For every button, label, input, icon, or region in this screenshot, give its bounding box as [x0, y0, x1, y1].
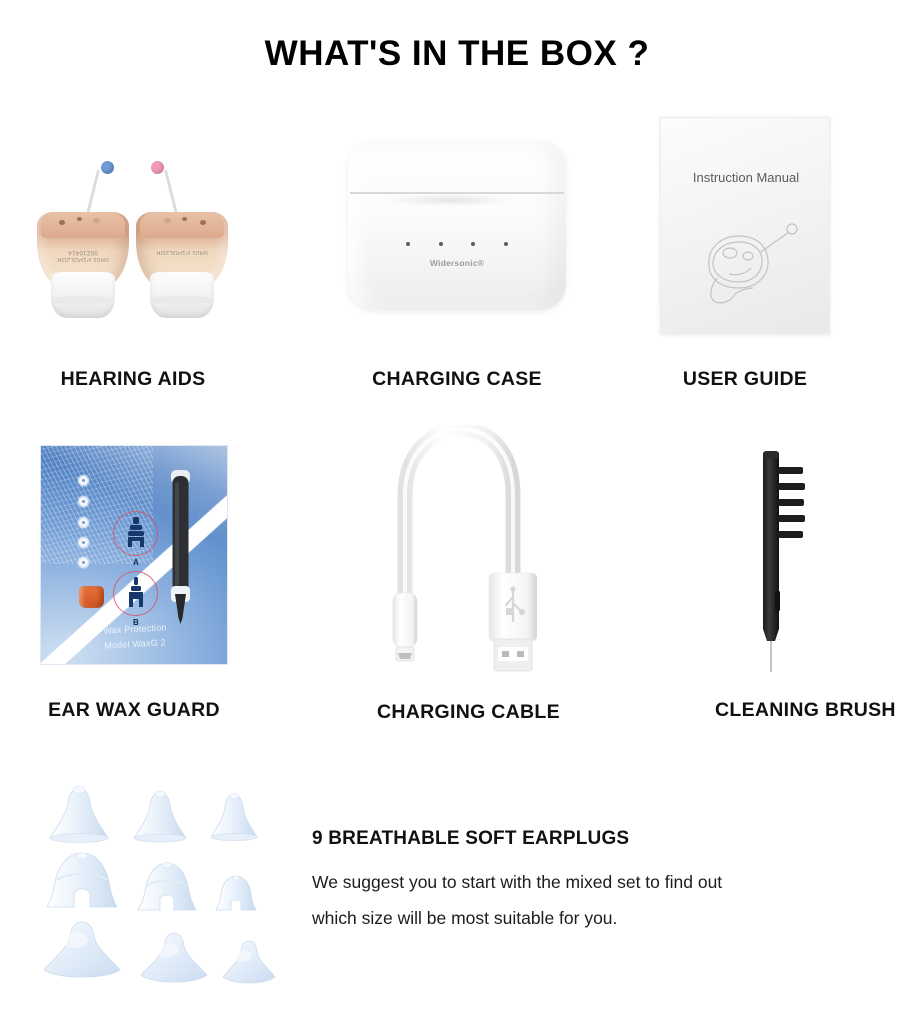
earplugs-description-line2: which size will be most suitable for you…	[312, 900, 617, 936]
caption-hearing-aids: HEARING AIDS	[35, 368, 231, 391]
charging-case-icon: Widersonic®	[348, 140, 566, 310]
hearing-aids-icon: SR01 P1POL2OR 00Z10414 SR01 P1POL2OR	[35, 122, 231, 334]
earplug-dome	[205, 792, 263, 842]
earplugs-grid	[30, 782, 280, 992]
faceplate-left	[41, 212, 125, 238]
case-body	[348, 140, 566, 310]
mic-port-left	[59, 220, 65, 225]
diagram-a-glyph	[124, 516, 148, 551]
charging-cable-icon	[377, 425, 537, 675]
item-hearing-aids: SR01 P1POL2OR 00Z10414 SR01 P1POL2OR HEA…	[35, 122, 231, 392]
vent-port-right	[164, 218, 171, 223]
cord-ball-left	[101, 161, 114, 174]
brush-drawing	[745, 443, 805, 673]
diagram-b-glyph	[124, 576, 148, 611]
wax-guard-dot	[79, 518, 88, 527]
vent-port-left	[93, 218, 100, 223]
item-cleaning-brush: CLEANING BRUSH	[715, 443, 835, 715]
caption-ear-wax-guard: EAR WAX GUARD	[40, 699, 228, 722]
faceplate-right	[140, 212, 224, 238]
ear-tip-ring-right	[150, 296, 214, 304]
caption-cleaning-brush: CLEANING BRUSH	[715, 699, 835, 722]
usb-cable-drawing	[377, 425, 537, 675]
diagram-label-a: A	[133, 558, 139, 567]
earplugs-description-line1: We suggest you to start with the mixed s…	[312, 864, 722, 900]
earplug-dome	[213, 874, 259, 914]
hearing-aid-left: SR01 P1POL2OR 00Z10414	[37, 144, 129, 314]
page-title: WHAT'S IN THE BOX ?	[0, 34, 914, 74]
serial-left: SR01 P1POL2OR 00Z10414	[45, 248, 121, 262]
led-dot	[439, 242, 443, 246]
case-brand-label: Widersonic®	[348, 258, 566, 268]
led-dot	[504, 242, 508, 246]
earplug-dome	[40, 918, 124, 980]
earplug-dome	[135, 860, 199, 914]
caption-user-guide: USER GUIDE	[660, 368, 830, 391]
wax-removal-tool	[170, 466, 191, 624]
mic-port-right	[200, 220, 206, 225]
infographic-page: WHAT'S IN THE BOX ? SR01 P1POL2OR 00Z104…	[0, 0, 914, 1024]
ear-tip-left	[51, 272, 115, 318]
case-highlight	[386, 194, 514, 206]
led-dot	[471, 242, 475, 246]
earplugs-heading: 9 BREATHABLE SOFT EARPLUGS	[312, 828, 629, 850]
ear-tip-right	[150, 272, 214, 318]
mic-port-right-2	[182, 217, 187, 221]
earplug-dome	[138, 930, 210, 984]
item-earplugs: 9 BREATHABLE SOFT EARPLUGS We suggest yo…	[30, 782, 890, 1002]
wax-guard-dot	[79, 558, 88, 567]
case-led-indicators	[406, 242, 508, 246]
earplug-dome	[42, 786, 116, 844]
item-charging-case: Widersonic® CHARGING CASE	[348, 140, 566, 392]
wax-guard-dot	[79, 497, 88, 506]
user-guide-icon: Instruction Manual	[660, 117, 830, 334]
earplug-dome	[44, 850, 120, 912]
orange-wax-plug	[79, 586, 104, 608]
caption-charging-cable: CHARGING CABLE	[377, 701, 537, 724]
manual-hearing-aid-linedrawing	[691, 220, 803, 306]
cord-ball-right	[151, 161, 164, 174]
wax-guard-dot	[79, 538, 88, 547]
item-user-guide: Instruction Manual USER GUI	[660, 117, 830, 392]
item-charging-cable: CHARGING CABLE	[377, 425, 537, 715]
earplug-dome	[127, 790, 193, 844]
cleaning-brush-icon	[745, 443, 805, 673]
hearing-aid-right: SR01 P1POL2OR	[136, 144, 228, 314]
earplug-dome	[220, 938, 278, 984]
mic-port-left-2	[77, 217, 82, 221]
wax-guard-package: A B Wax Pr	[40, 445, 228, 665]
caption-charging-case: CHARGING CASE	[348, 368, 566, 391]
manual-cover: Instruction Manual	[660, 117, 830, 334]
item-ear-wax-guard: A B Wax Pr	[40, 445, 228, 715]
led-dot	[406, 242, 410, 246]
wax-guard-dot	[79, 476, 88, 485]
serial-right: SR01 P1POL2OR	[144, 248, 220, 255]
ear-wax-guard-icon: A B Wax Pr	[40, 445, 228, 665]
ear-tip-ring-left	[51, 296, 115, 304]
manual-cover-title: Instruction Manual	[661, 170, 831, 185]
